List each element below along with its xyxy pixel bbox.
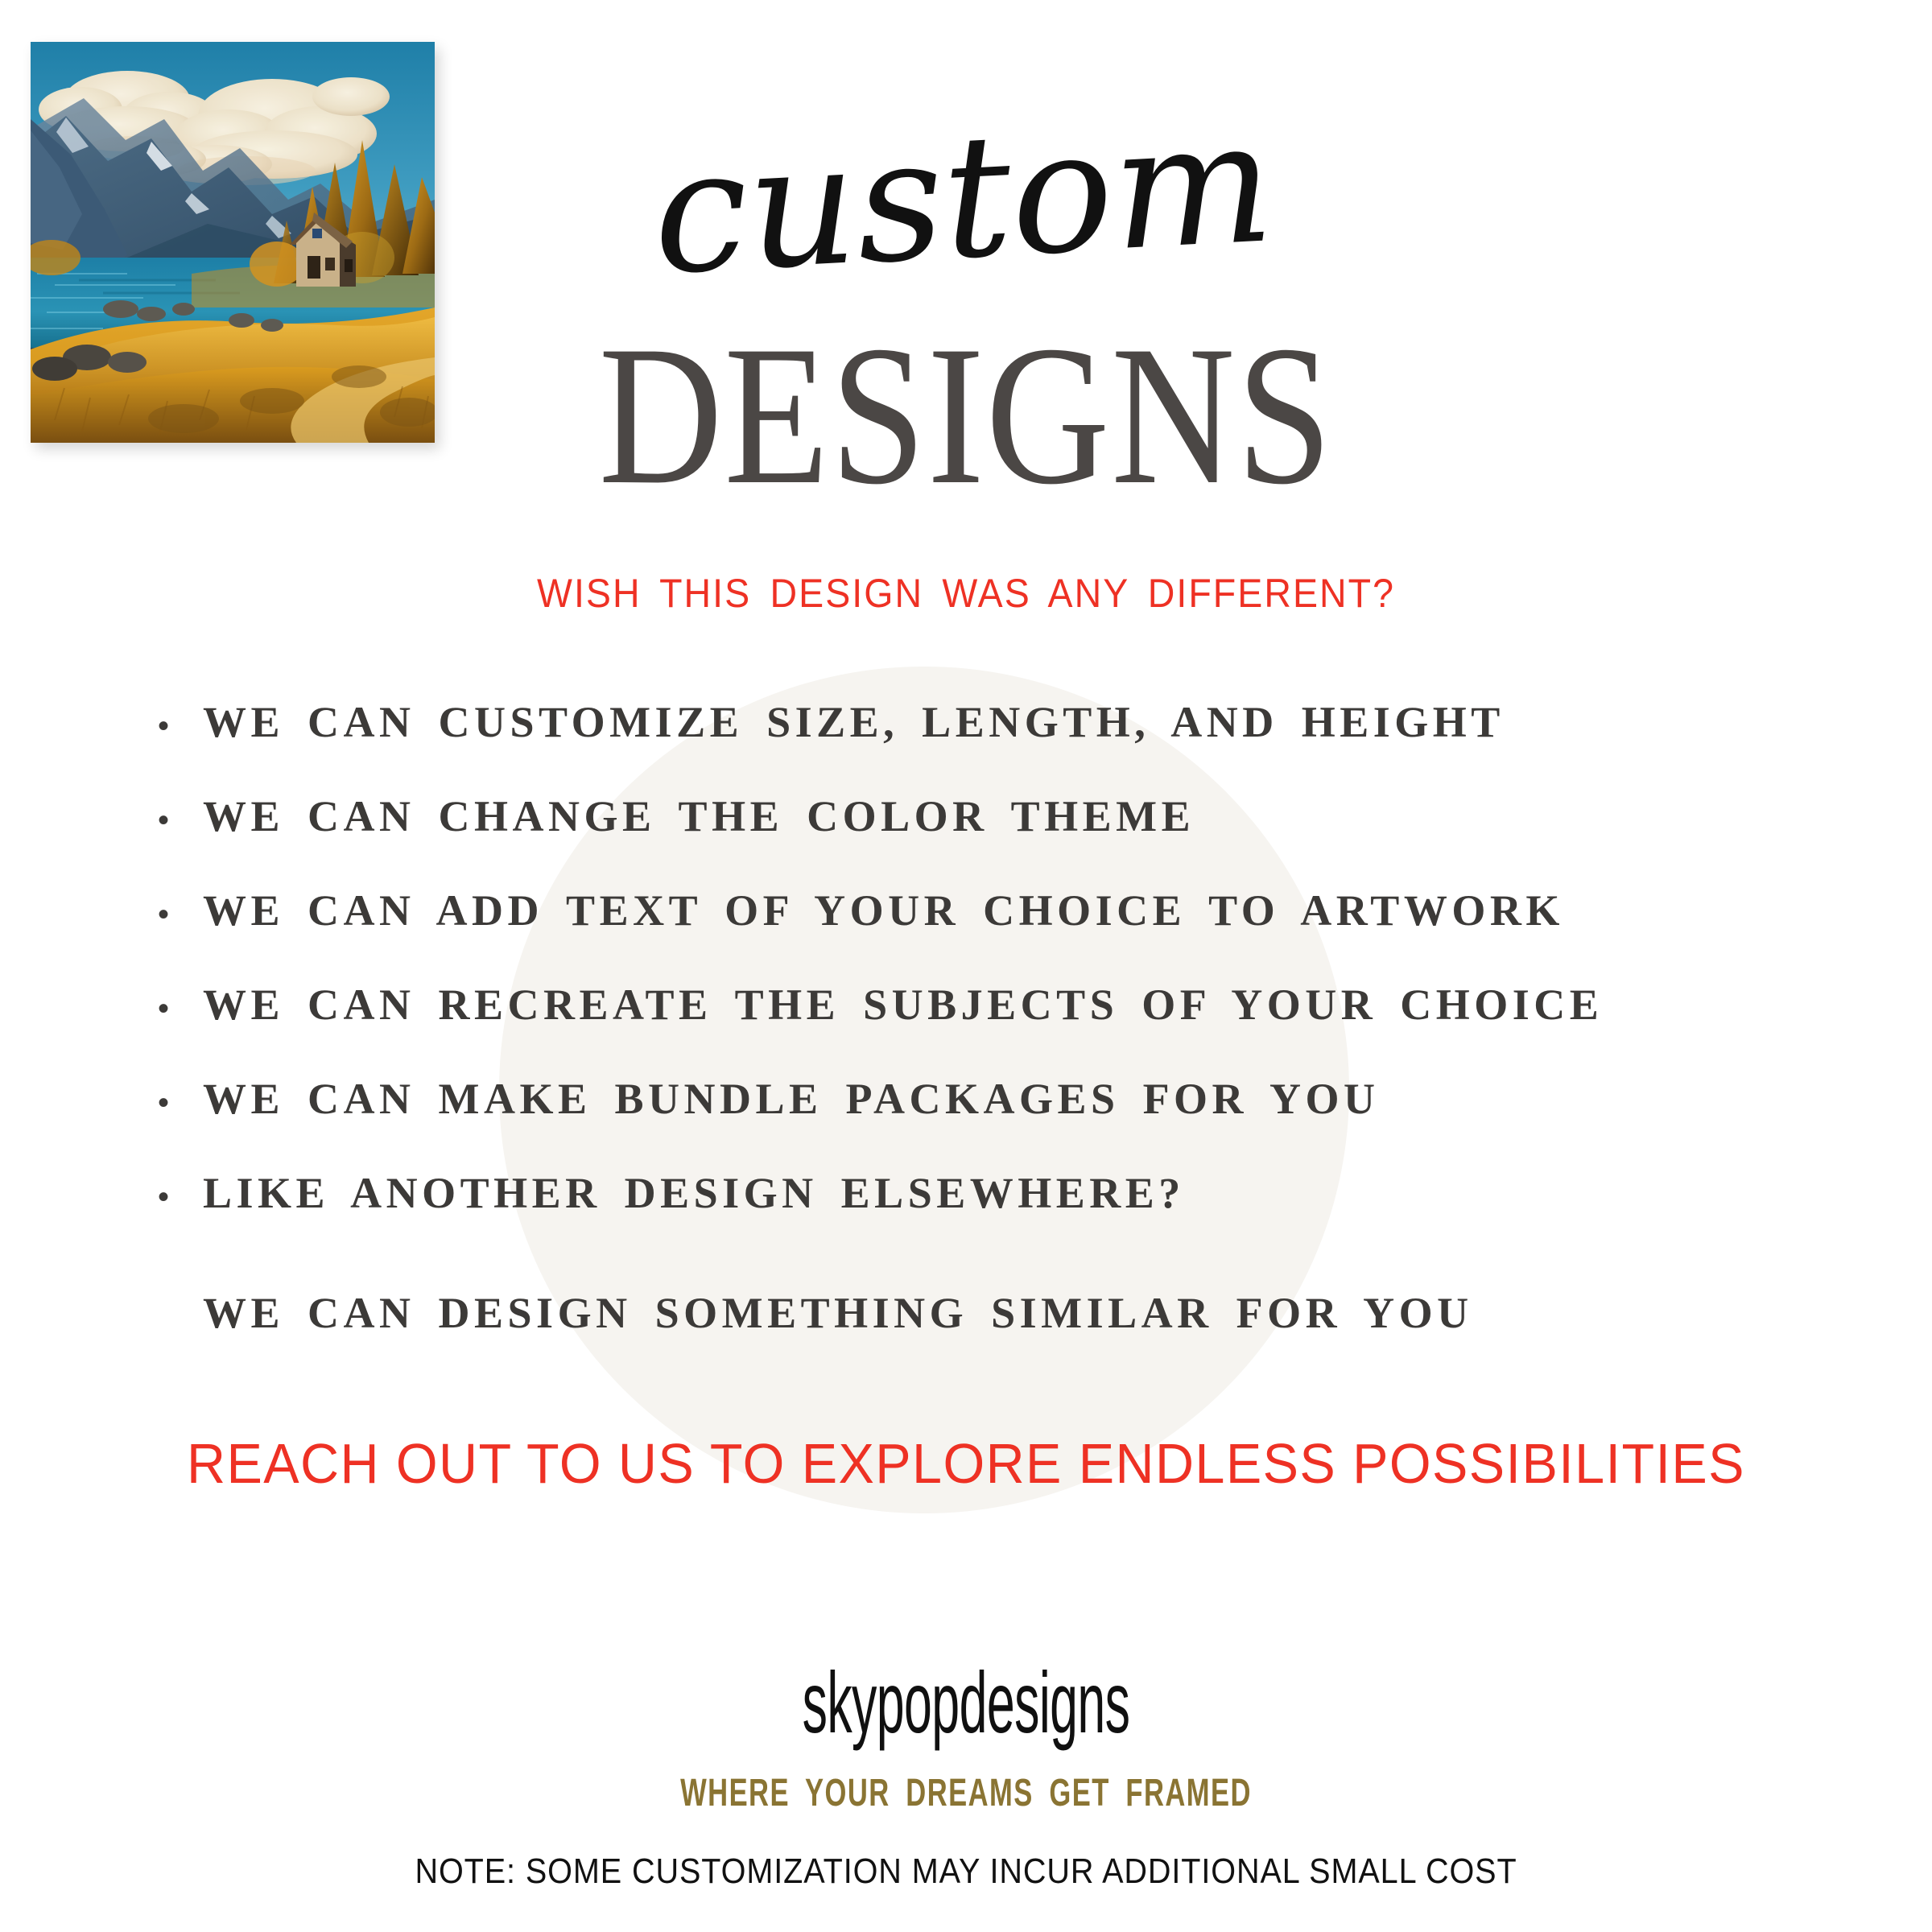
list-item-label: LIKE ANOTHER DESIGN ELSEWHERE? (203, 1168, 1185, 1218)
brand-tagline: WHERE YOUR DREAMS GET FRAMED (270, 1771, 1662, 1815)
list-item-continuation: WE CAN DESIGN SOMETHING SIMILAR FOR YOU (203, 1288, 1473, 1338)
list-item-label: WE CAN CUSTOMIZE SIZE, LENGTH, AND HEIGH… (203, 697, 1505, 747)
script-headline-svg: custom (523, 97, 1409, 306)
list-item: • WE CAN MAKE BUNDLE PACKAGES FOR YOU (158, 1074, 1848, 1168)
list-item: • LIKE ANOTHER DESIGN ELSEWHERE? (158, 1168, 1848, 1262)
artwork-illustration (31, 42, 435, 443)
bullet-dot-icon: • (158, 898, 203, 931)
bullet-dot-icon: • (158, 1087, 203, 1119)
list-item: • WE CAN ADD TEXT OF YOUR CHOICE TO ARTW… (158, 885, 1848, 980)
footer-note: NOTE: SOME CUSTOMIZATION MAY INCUR ADDIT… (97, 1851, 1835, 1892)
feature-bullet-list: • WE CAN CUSTOMIZE SIZE, LENGTH, AND HEI… (158, 697, 1848, 1262)
script-headline-text: custom (648, 97, 1278, 306)
list-item: • WE CAN CUSTOMIZE SIZE, LENGTH, AND HEI… (158, 697, 1848, 791)
artwork-thumbnail (31, 42, 435, 443)
brand-name: skypopdesigns (406, 1652, 1526, 1752)
list-item: • WE CAN RECREATE THE SUBJECTS OF YOUR C… (158, 980, 1848, 1074)
list-item-label: WE CAN RECREATE THE SUBJECTS OF YOUR CHO… (203, 980, 1603, 1030)
bullet-dot-icon: • (158, 804, 203, 836)
bullet-dot-icon: • (158, 1181, 203, 1213)
bullet-dot-icon: • (158, 710, 203, 742)
call-to-action-text: REACH OUT TO US TO EXPLORE ENDLESS POSSI… (48, 1431, 1884, 1496)
list-item-label: WE CAN MAKE BUNDLE PACKAGES FOR YOU (203, 1074, 1380, 1124)
subtitle-question: WISH THIS DESIGN WAS ANY DIFFERENT? (68, 570, 1864, 617)
bullet-dot-icon: • (158, 993, 203, 1025)
list-item: • WE CAN CHANGE THE COLOR THEME (158, 791, 1848, 885)
list-item-label: WE CAN CHANGE THE COLOR THEME (203, 791, 1195, 841)
list-item-label: WE CAN ADD TEXT OF YOUR CHOICE TO ARTWOR… (203, 885, 1564, 935)
